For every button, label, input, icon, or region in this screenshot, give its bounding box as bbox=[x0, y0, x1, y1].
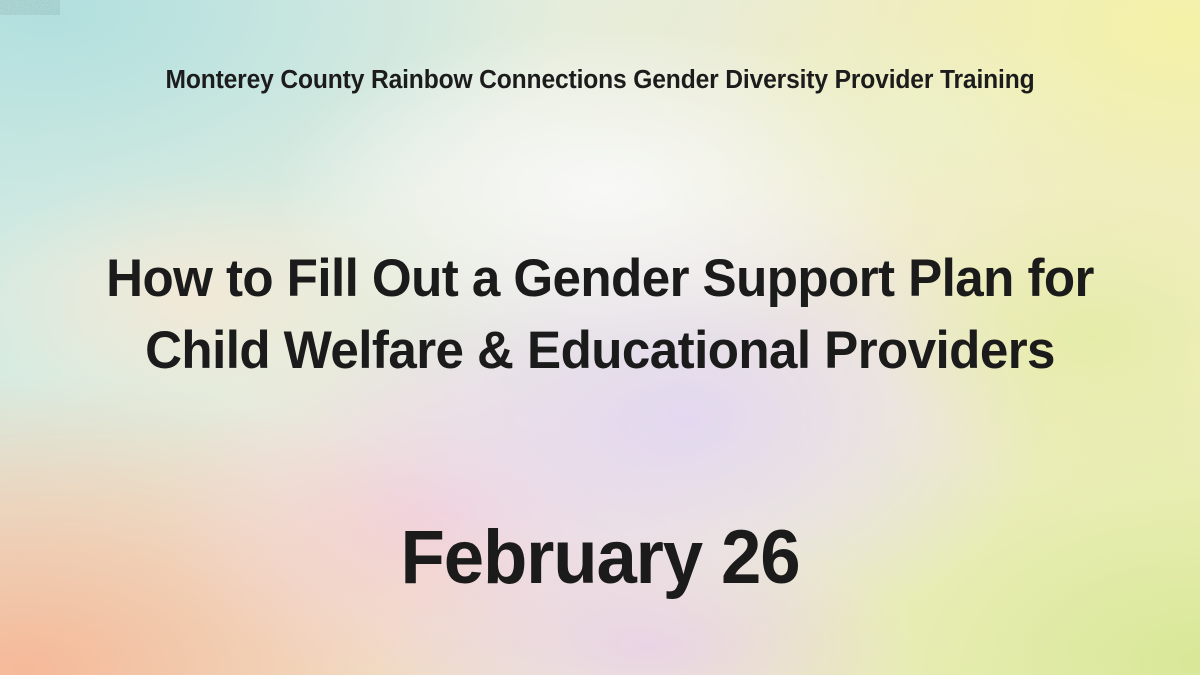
page-title: How to Fill Out a Gender Support Plan fo… bbox=[21, 243, 1179, 387]
page-title-line-2: Child Welfare & Educational Providers bbox=[21, 315, 1179, 387]
title-card: Monterey County Rainbow Connections Gend… bbox=[0, 0, 1200, 675]
slide-content: Monterey County Rainbow Connections Gend… bbox=[0, 0, 1200, 675]
event-date: February 26 bbox=[27, 517, 1173, 599]
event-series-label: Monterey County Rainbow Connections Gend… bbox=[21, 66, 1179, 95]
page-title-line-1: How to Fill Out a Gender Support Plan fo… bbox=[21, 243, 1179, 315]
